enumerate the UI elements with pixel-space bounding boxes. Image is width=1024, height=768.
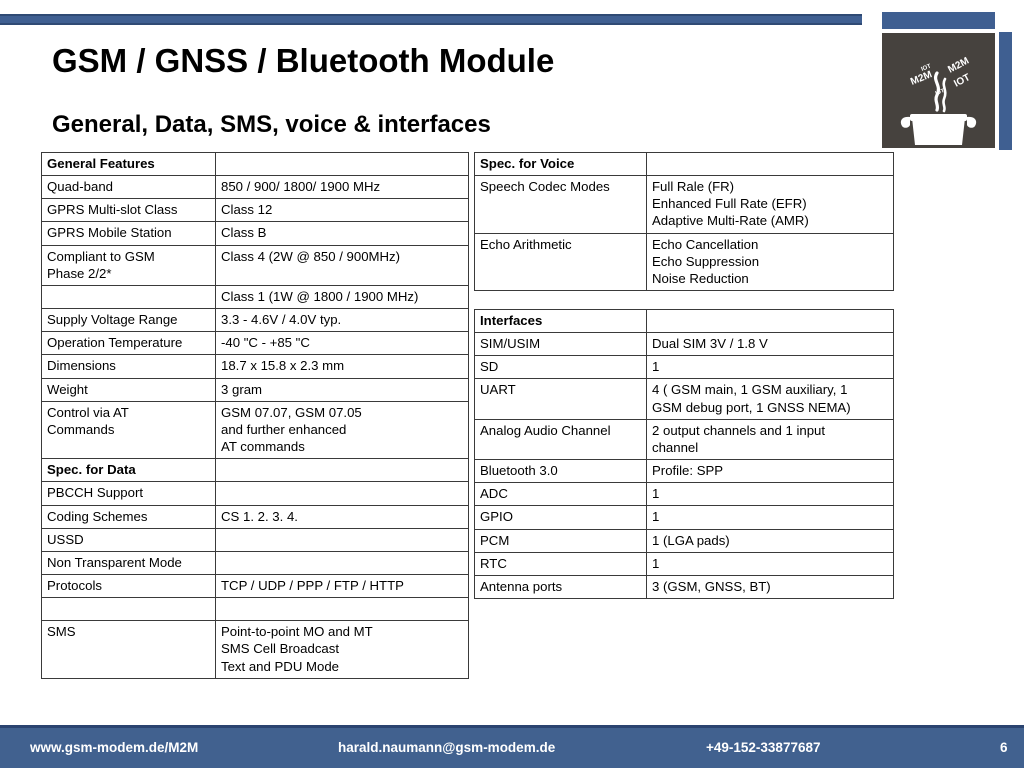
table-row: Supply Voltage Range3.3 - 4.6V / 4.0V ty… [42,309,469,332]
table-row: Operation Temperature-40 "C - +85 "C [42,332,469,355]
cell-line: 18.7 x 15.8 x 2.3 mm [221,357,463,374]
cell-line: Enhanced Full Rate (EFR) [652,195,888,212]
row-value: 850 / 900/ 1800/ 1900 MHz [216,176,469,199]
row-label: Protocols [42,574,216,597]
cell-line: RTC [480,555,641,572]
cell-line: Echo Suppression [652,253,888,270]
cell-line: ADC [480,485,641,502]
spec-for-voice-table: Spec. for Voice Speech Codec ModesFull R… [474,152,894,291]
table-header-label: General Features [42,153,216,176]
table-row: SMSPoint-to-point MO and MTSMS Cell Broa… [42,621,469,678]
interfaces-table: Interfaces SIM/USIMDual SIM 3V / 1.8 VSD… [474,309,894,599]
cell-line: Speech Codec Modes [480,178,641,195]
row-value: 1 [647,506,894,529]
cell-line: Weight [47,381,210,398]
table-row: Speech Codec ModesFull Rale (FR)Enhanced… [475,176,894,233]
cell-line: 3 gram [221,381,463,398]
cell-line: 1 [652,485,888,502]
page-title: GSM / GNSS / Bluetooth Module [52,42,554,80]
cell-line: PBCCH Support [47,484,210,501]
row-label: Analog Audio Channel [475,419,647,459]
cell-line: SMS Cell Broadcast [221,640,463,657]
cell-line: Compliant to GSM [47,248,210,265]
row-value: Point-to-point MO and MTSMS Cell Broadca… [216,621,469,678]
row-label: Antenna ports [475,575,647,598]
cell-line: channel [652,439,888,456]
cell-line: Supply Voltage Range [47,311,210,328]
row-label: Control via ATCommands [42,401,216,458]
footer-page-number: 6 [1000,740,1008,755]
footer-bar: www.gsm-modem.de/M2M harald.naumann@gsm-… [0,725,1024,768]
cell-line: GPRS Multi-slot Class [47,201,210,218]
cell-line: 1 (LGA pads) [652,532,888,549]
cell-line: Operation Temperature [47,334,210,351]
row-label: RTC [475,552,647,575]
side-accent-strip [999,32,1012,150]
footer-email[interactable]: harald.naumann@gsm-modem.de [338,740,555,755]
table-row: Dimensions18.7 x 15.8 x 2.3 mm [42,355,469,378]
table-row: Analog Audio Channel2 output channels an… [475,419,894,459]
table-row: PBCCH Support [42,482,469,505]
row-value: 2 output channels and 1 inputchannel [647,419,894,459]
row-label: Quad-band [42,176,216,199]
table-row: Quad-band850 / 900/ 1800/ 1900 MHz [42,176,469,199]
table-header-value [647,310,894,333]
cell-line: 3 (GSM, GNSS, BT) [652,578,888,595]
cell-line: Echo Cancellation [652,236,888,253]
cell-line: General Features [47,155,210,172]
cell-line: Antenna ports [480,578,641,595]
m2m-iot-cooking-pot-logo: IOT M2M M2M IOT IOT [882,33,995,148]
table-row: PCM1 (LGA pads) [475,529,894,552]
cell-line: Class B [221,224,463,241]
table-row: Weight3 gram [42,378,469,401]
cell-line: PCM [480,532,641,549]
row-value: 3 (GSM, GNSS, BT) [647,575,894,598]
cell-line: GSM 07.07, GSM 07.05 [221,404,463,421]
cell-line: Spec. for Voice [480,155,641,172]
table-row: USSD [42,528,469,551]
table-row: Control via ATCommandsGSM 07.07, GSM 07.… [42,401,469,458]
row-label: Non Transparent Mode [42,551,216,574]
cell-line: 850 / 900/ 1800/ 1900 MHz [221,178,463,195]
row-value: Echo CancellationEcho SuppressionNoise R… [647,233,894,290]
cell-line: 2 output channels and 1 input [652,422,888,439]
row-value [216,482,469,505]
row-label: Spec. for Data [42,459,216,482]
row-value: Dual SIM 3V / 1.8 V [647,333,894,356]
row-value: Class 12 [216,199,469,222]
row-value: 3.3 - 4.6V / 4.0V typ. [216,309,469,332]
row-value: 1 [647,356,894,379]
row-value: Class 4 (2W @ 850 / 900MHz) [216,245,469,285]
row-value: 1 (LGA pads) [647,529,894,552]
footer-website[interactable]: www.gsm-modem.de/M2M [30,740,198,755]
cell-line: Control via AT [47,404,210,421]
general-features-table: General Features Quad-band850 / 900/ 180… [41,152,469,679]
row-value [216,598,469,621]
svg-text:IOT: IOT [952,72,972,90]
cell-line: 1 [652,555,888,572]
row-label: Operation Temperature [42,332,216,355]
row-value [216,528,469,551]
row-label: Speech Codec Modes [475,176,647,233]
table-header-row: Spec. for Voice [475,153,894,176]
row-value: Class 1 (1W @ 1800 / 1900 MHz) [216,285,469,308]
cell-line: Quad-band [47,178,210,195]
cell-line: Non Transparent Mode [47,554,210,571]
row-label: PCM [475,529,647,552]
row-value: GSM 07.07, GSM 07.05and further enhanced… [216,401,469,458]
row-value [216,459,469,482]
table-row: Echo ArithmeticEcho CancellationEcho Sup… [475,233,894,290]
table-header-label: Interfaces [475,310,647,333]
cell-line: Interfaces [480,312,641,329]
cell-line: UART [480,381,641,398]
cell-line: AT commands [221,438,463,455]
row-label: UART [475,379,647,419]
cell-line: Protocols [47,577,210,594]
cell-line: GPIO [480,508,641,525]
cell-line: Profile: SPP [652,462,888,479]
cell-line: Bluetooth 3.0 [480,462,641,479]
table-row: ADC1 [475,483,894,506]
row-label: ADC [475,483,647,506]
table-header-label: Spec. for Voice [475,153,647,176]
svg-text:M2M: M2M [909,69,934,88]
row-label: Compliant to GSMPhase 2/2* [42,245,216,285]
table-row [42,598,469,621]
row-value: 1 [647,552,894,575]
cell-line: Phase 2/2* [47,265,210,282]
table-row: Bluetooth 3.0Profile: SPP [475,460,894,483]
cell-line: GPRS Mobile Station [47,224,210,241]
row-label [42,285,216,308]
table-body: General Features Quad-band850 / 900/ 180… [42,153,469,679]
table-row: GPRS Multi-slot ClassClass 12 [42,199,469,222]
row-label: GPRS Mobile Station [42,222,216,245]
table-header-row: General Features [42,153,469,176]
row-label: Dimensions [42,355,216,378]
table-body: Interfaces SIM/USIMDual SIM 3V / 1.8 VSD… [475,310,894,599]
footer-phone: +49-152-33877687 [706,740,820,755]
table-row: ProtocolsTCP / UDP / PPP / FTP / HTTP [42,574,469,597]
row-value: Class B [216,222,469,245]
cell-line: GSM debug port, 1 GNSS NEMA) [652,399,888,416]
svg-text:M2M: M2M [946,55,971,75]
cell-line: Adaptive Multi-Rate (AMR) [652,212,888,229]
cell-line: Class 1 (1W @ 1800 / 1900 MHz) [221,288,463,305]
table-header-value [647,153,894,176]
table-row: SD1 [475,356,894,379]
table-row: Compliant to GSMPhase 2/2*Class 4 (2W @ … [42,245,469,285]
header-accent-block [882,12,995,29]
cell-line: Dual SIM 3V / 1.8 V [652,335,888,352]
table-row: Antenna ports3 (GSM, GNSS, BT) [475,575,894,598]
row-value: TCP / UDP / PPP / FTP / HTTP [216,574,469,597]
row-label: USSD [42,528,216,551]
row-value: 3 gram [216,378,469,401]
cell-line: 1 [652,508,888,525]
row-value: 18.7 x 15.8 x 2.3 mm [216,355,469,378]
table-row: Class 1 (1W @ 1800 / 1900 MHz) [42,285,469,308]
cell-line: Coding Schemes [47,508,210,525]
row-value: Profile: SPP [647,460,894,483]
cell-line: and further enhanced [221,421,463,438]
table-row: GPIO1 [475,506,894,529]
table-header-row: Interfaces [475,310,894,333]
header-accent-rule [0,14,862,25]
row-label: SMS [42,621,216,678]
row-label [42,598,216,621]
cell-line: Noise Reduction [652,270,888,287]
cell-line: Class 4 (2W @ 850 / 900MHz) [221,248,463,265]
cell-line: -40 "C - +85 "C [221,334,463,351]
row-label: Echo Arithmetic [475,233,647,290]
cell-line: Class 12 [221,201,463,218]
row-value: Full Rale (FR)Enhanced Full Rate (EFR)Ad… [647,176,894,233]
table-body: Spec. for Voice Speech Codec ModesFull R… [475,153,894,291]
row-label: SIM/USIM [475,333,647,356]
cell-line: Full Rale (FR) [652,178,888,195]
cell-line: 1 [652,358,888,375]
cell-line: Spec. for Data [47,461,210,478]
cell-line: Commands [47,421,210,438]
cell-line: Dimensions [47,357,210,374]
cell-line: CS 1. 2. 3. 4. [221,508,463,525]
cell-line: 4 ( GSM main, 1 GSM auxiliary, 1 [652,381,888,398]
cell-line: Analog Audio Channel [480,422,641,439]
cell-line: Text and PDU Mode [221,658,463,675]
cell-line: SIM/USIM [480,335,641,352]
cell-line: TCP / UDP / PPP / FTP / HTTP [221,577,463,594]
table-row: RTC1 [475,552,894,575]
table-row: Coding SchemesCS 1. 2. 3. 4. [42,505,469,528]
table-row: SIM/USIMDual SIM 3V / 1.8 V [475,333,894,356]
cell-line: Echo Arithmetic [480,236,641,253]
row-value: CS 1. 2. 3. 4. [216,505,469,528]
table-row: GPRS Mobile StationClass B [42,222,469,245]
row-label: SD [475,356,647,379]
cell-line: SD [480,358,641,375]
cell-line: SMS [47,623,210,640]
table-header-value [216,153,469,176]
row-label: Bluetooth 3.0 [475,460,647,483]
row-label: PBCCH Support [42,482,216,505]
row-value: 4 ( GSM main, 1 GSM auxiliary, 1GSM debu… [647,379,894,419]
table-row: Spec. for Data [42,459,469,482]
row-value: -40 "C - +85 "C [216,332,469,355]
cell-line: 3.3 - 4.6V / 4.0V typ. [221,311,463,328]
row-value: 1 [647,483,894,506]
row-label: GPIO [475,506,647,529]
cell-line: USSD [47,531,210,548]
row-label: Supply Voltage Range [42,309,216,332]
row-label: Weight [42,378,216,401]
row-label: GPRS Multi-slot Class [42,199,216,222]
cell-line: Point-to-point MO and MT [221,623,463,640]
row-value [216,551,469,574]
table-row: UART4 ( GSM main, 1 GSM auxiliary, 1GSM … [475,379,894,419]
table-row: Non Transparent Mode [42,551,469,574]
row-label: Coding Schemes [42,505,216,528]
page-subtitle: General, Data, SMS, voice & interfaces [52,111,491,139]
